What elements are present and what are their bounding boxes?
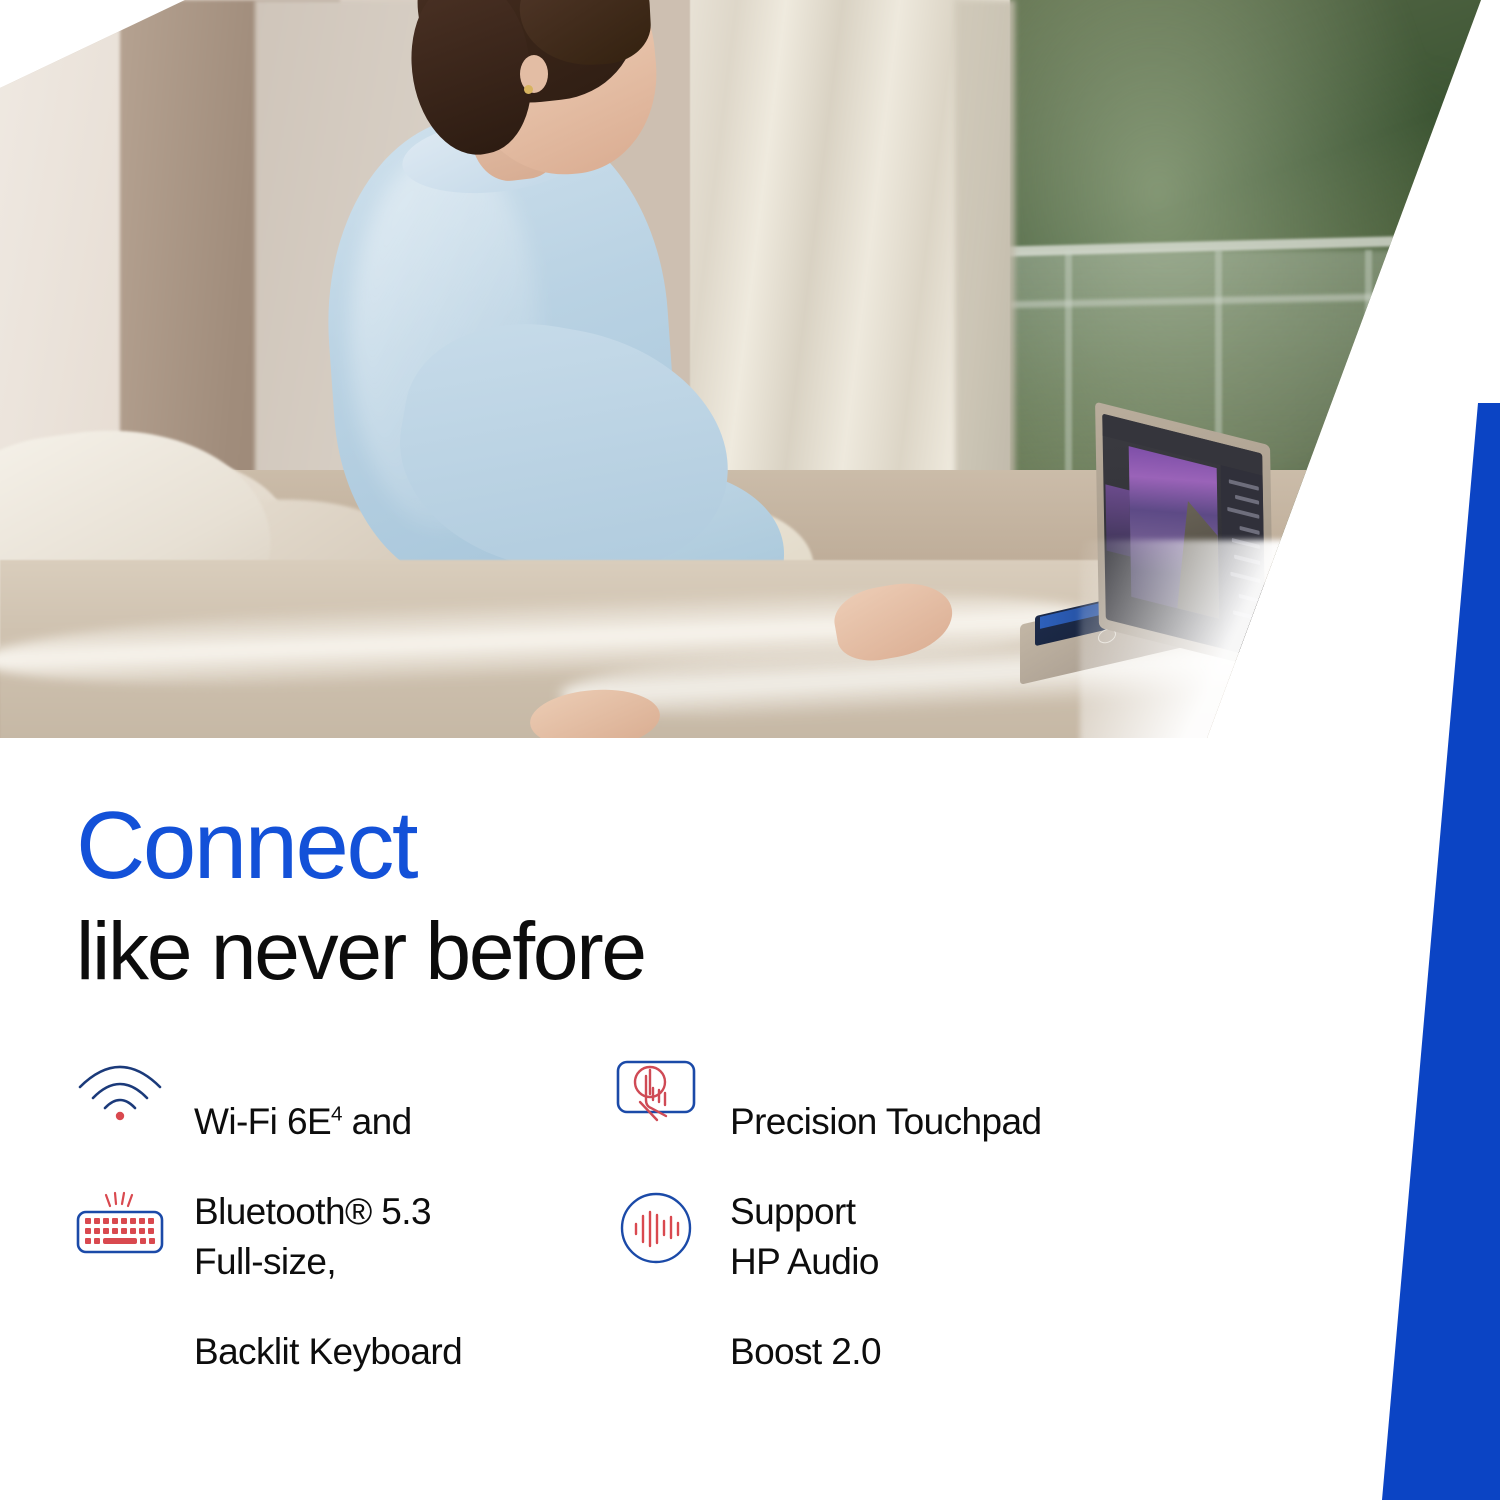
wifi-footnote: 4 (331, 1103, 342, 1126)
backlit-keyboard-icon (72, 1180, 168, 1276)
keyboard-text-2: Backlit Keyboard (194, 1331, 462, 1372)
wifi-text: Wi-Fi 6E (194, 1101, 331, 1142)
keyboard-text: Full-size, (194, 1241, 336, 1282)
photo-edge-fade (1080, 540, 1300, 745)
precision-touchpad-icon (608, 1040, 704, 1136)
feature-label-keyboard: Full-size, Backlit Keyboard (194, 1180, 462, 1375)
rail-post (1065, 250, 1072, 490)
touchpad-text: Precision Touchpad (730, 1101, 1041, 1142)
headline-accent: Connect (76, 798, 645, 894)
feature-list: Wi-Fi 6E4 and Bluetooth® 5.3 Preci (72, 1040, 1152, 1320)
rail-post (1365, 250, 1372, 490)
feature-item-audio: HP Audio Boost 2.0 (608, 1180, 1144, 1320)
feature-item-wifi: Wi-Fi 6E4 and Bluetooth® 5.3 (72, 1040, 608, 1180)
feature-label-audio: HP Audio Boost 2.0 (730, 1180, 881, 1375)
feature-item-keyboard: Full-size, Backlit Keyboard (72, 1180, 608, 1320)
feature-item-touchpad: Precision Touchpad Support (608, 1040, 1144, 1180)
hero-photo-scene (0, 0, 1500, 745)
audio-text-2: Boost 2.0 (730, 1331, 881, 1372)
wifi-icon (72, 1040, 168, 1136)
marketing-card: Connect like never before Wi-Fi 6E4 and … (0, 0, 1500, 1500)
audio-text: HP Audio (730, 1241, 879, 1282)
hero-image (0, 0, 1500, 745)
audio-boost-icon (608, 1180, 704, 1276)
page-title: Connect like never before (76, 798, 645, 997)
wifi-text-tail: and (342, 1101, 412, 1142)
earring (524, 85, 533, 94)
headline-subline: like never before (76, 908, 645, 997)
